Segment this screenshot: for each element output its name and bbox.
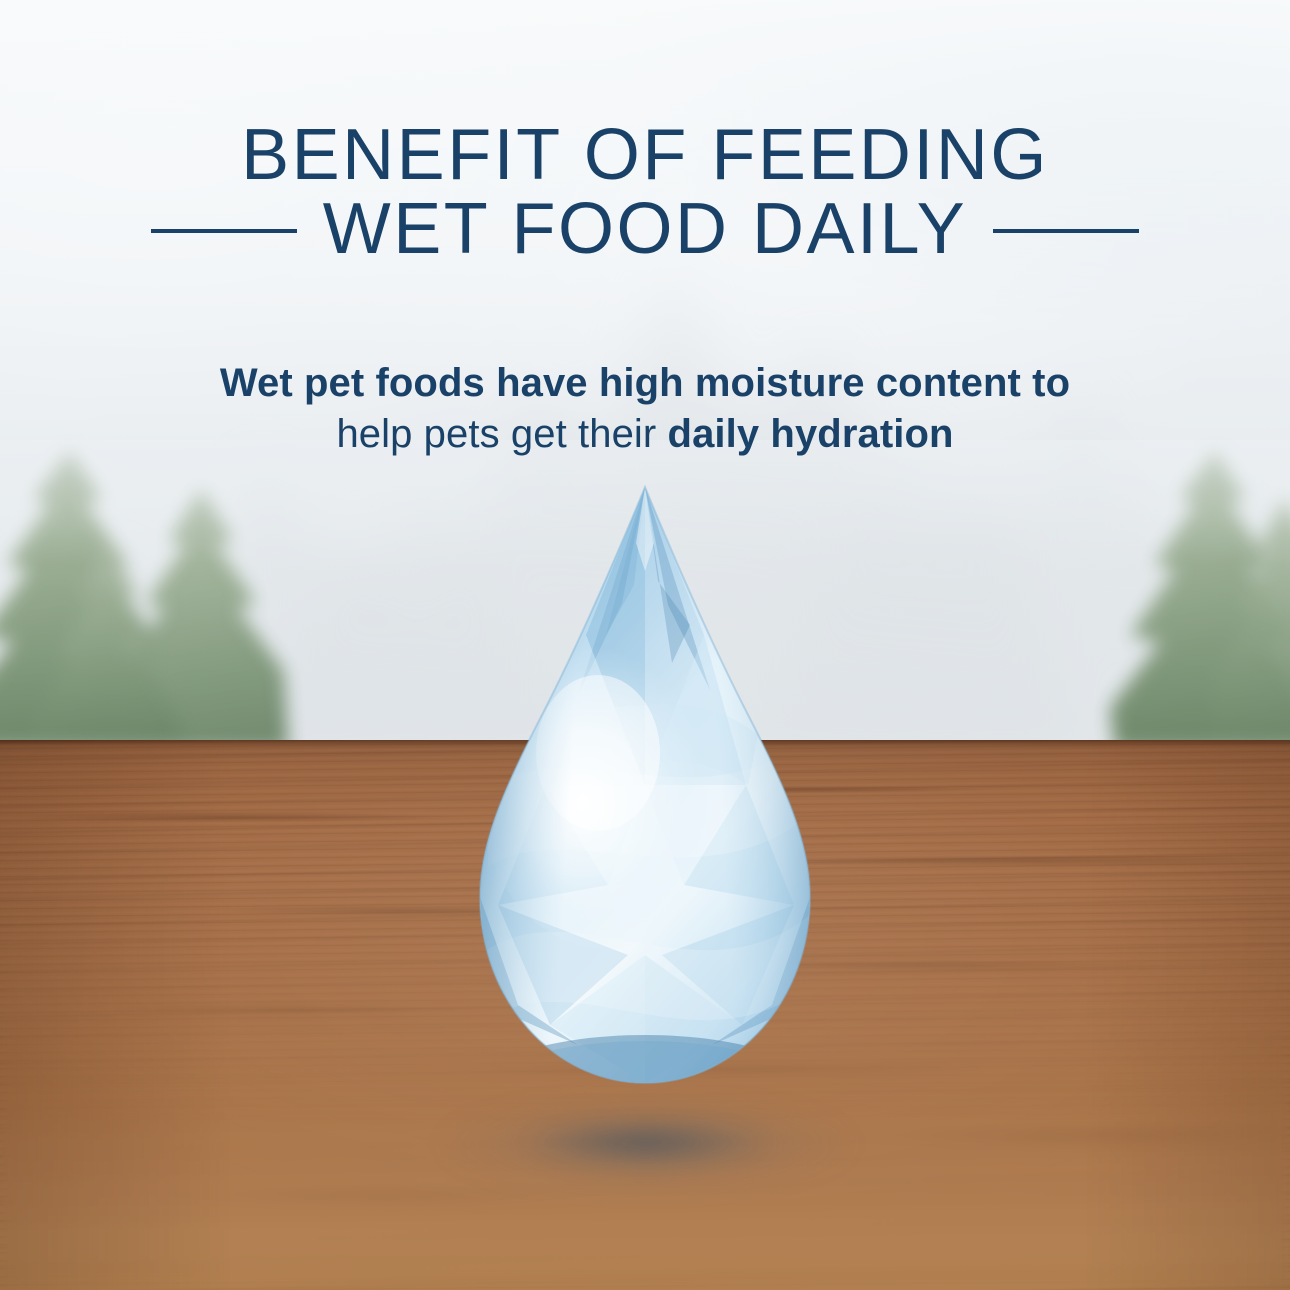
subtitle-line-2: help pets get their daily hydration	[0, 409, 1290, 460]
headline-line-1: BENEFIT OF FEEDING	[0, 118, 1290, 192]
water-droplet-icon	[458, 485, 832, 1085]
subtitle-emphasis: daily hydration	[668, 412, 954, 456]
headline-line-2-row: WET FOOD DAILY	[0, 192, 1290, 266]
subtitle: Wet pet foods have high moisture content…	[0, 358, 1290, 460]
headline-line-2: WET FOOD DAILY	[323, 192, 967, 266]
headline-rule-right	[993, 229, 1139, 233]
subtitle-line-1: Wet pet foods have high moisture content…	[0, 358, 1290, 409]
headline-rule-left	[151, 229, 297, 233]
subtitle-line-2-prefix: help pets get their	[336, 412, 667, 456]
headline: BENEFIT OF FEEDING WET FOOD DAILY	[0, 118, 1290, 266]
poster-canvas: BENEFIT OF FEEDING WET FOOD DAILY Wet pe…	[0, 0, 1290, 1290]
droplet-shadow-core	[520, 1122, 770, 1162]
